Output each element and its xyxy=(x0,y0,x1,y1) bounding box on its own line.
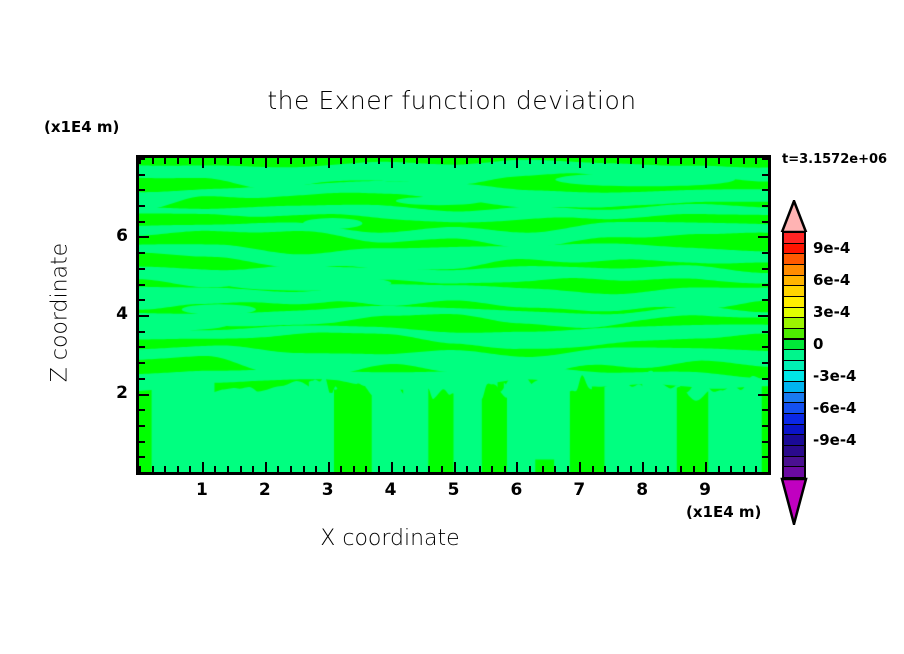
x-major-tick xyxy=(516,158,518,168)
x-minor-tick xyxy=(252,466,254,472)
x-minor-tick xyxy=(416,158,418,164)
x-minor-tick xyxy=(755,466,757,472)
colorbar-tick-label: -3e-4 xyxy=(813,367,857,385)
x-minor-tick xyxy=(315,466,317,472)
page-title: the Exner function deviation xyxy=(0,86,904,115)
x-minor-tick xyxy=(378,158,380,164)
x-minor-tick xyxy=(768,158,770,164)
x-minor-tick xyxy=(177,158,179,164)
x-minor-tick xyxy=(504,158,506,164)
x-minor-tick xyxy=(164,466,166,472)
x-minor-tick xyxy=(768,466,770,472)
x-minor-tick xyxy=(189,466,191,472)
x-minor-tick xyxy=(655,466,657,472)
x-minor-tick xyxy=(403,158,405,164)
y-minor-tick xyxy=(139,456,145,458)
x-major-tick xyxy=(579,462,581,472)
y-minor-tick xyxy=(139,331,145,333)
x-minor-tick xyxy=(491,466,493,472)
x-minor-tick xyxy=(743,158,745,164)
figure-canvas: the Exner function deviation (x1E4 m) (x… xyxy=(0,0,904,654)
x-minor-tick xyxy=(152,158,154,164)
y-minor-tick xyxy=(762,378,768,380)
y-minor-tick xyxy=(762,472,768,474)
contour-field xyxy=(139,158,768,472)
x-minor-tick xyxy=(277,466,279,472)
colorbar-band xyxy=(782,466,806,478)
x-minor-tick xyxy=(441,466,443,472)
x-tick-label: 2 xyxy=(250,480,280,500)
x-tick-label: 6 xyxy=(501,480,531,500)
x-tick-label: 9 xyxy=(690,480,720,500)
x-minor-tick xyxy=(365,466,367,472)
y-major-tick xyxy=(139,394,149,396)
x-minor-tick xyxy=(428,158,430,164)
colorbar-over-arrow-icon xyxy=(779,200,809,232)
y-minor-tick xyxy=(762,331,768,333)
y-minor-tick xyxy=(139,425,145,427)
y-minor-tick xyxy=(762,425,768,427)
y-minor-tick xyxy=(762,221,768,223)
y-minor-tick xyxy=(762,441,768,443)
x-major-tick xyxy=(328,462,330,472)
time-annotation: t=3.1572e+06 xyxy=(782,152,887,167)
y-minor-tick xyxy=(762,299,768,301)
x-minor-tick xyxy=(529,466,531,472)
x-minor-tick xyxy=(353,158,355,164)
x-major-tick xyxy=(454,158,456,168)
y-minor-tick xyxy=(762,189,768,191)
x-minor-tick xyxy=(554,466,556,472)
y-tick-label: 4 xyxy=(98,304,128,324)
y-major-tick xyxy=(758,236,768,238)
colorbar-tick-label: 3e-4 xyxy=(813,303,850,321)
x-minor-tick xyxy=(441,158,443,164)
y-minor-tick xyxy=(139,409,145,411)
x-minor-tick xyxy=(630,466,632,472)
x-minor-tick xyxy=(617,158,619,164)
x-minor-tick xyxy=(630,158,632,164)
y-minor-tick xyxy=(139,268,145,270)
x-minor-tick xyxy=(340,158,342,164)
x-minor-tick xyxy=(240,158,242,164)
y-minor-tick xyxy=(139,472,145,474)
x-major-tick xyxy=(328,158,330,168)
x-major-tick xyxy=(642,158,644,168)
x-minor-tick xyxy=(214,158,216,164)
x-major-tick xyxy=(391,462,393,472)
x-major-tick xyxy=(202,462,204,472)
x-minor-tick xyxy=(466,158,468,164)
colorbar-tick-label: 6e-4 xyxy=(813,271,850,289)
y-minor-tick xyxy=(762,456,768,458)
x-tick-label: 8 xyxy=(627,480,657,500)
x-minor-tick xyxy=(353,466,355,472)
x-major-tick xyxy=(265,158,267,168)
y-minor-tick xyxy=(762,409,768,411)
x-minor-tick xyxy=(303,158,305,164)
x-major-tick xyxy=(454,462,456,472)
x-minor-tick xyxy=(680,466,682,472)
y-minor-tick xyxy=(139,441,145,443)
x-minor-tick xyxy=(479,466,481,472)
x-minor-tick xyxy=(491,158,493,164)
x-minor-tick xyxy=(290,158,292,164)
x-minor-tick xyxy=(718,466,720,472)
x-major-tick xyxy=(391,158,393,168)
y-minor-tick xyxy=(762,158,768,160)
x-minor-tick xyxy=(227,158,229,164)
x-axis-title: X coordinate xyxy=(0,526,780,551)
x-major-tick xyxy=(579,158,581,168)
x-minor-tick xyxy=(655,158,657,164)
x-minor-tick xyxy=(177,466,179,472)
colorbar-under-arrow-icon xyxy=(779,477,809,525)
x-major-tick xyxy=(705,158,707,168)
x-minor-tick xyxy=(617,466,619,472)
x-minor-tick xyxy=(504,466,506,472)
x-minor-tick xyxy=(604,158,606,164)
x-minor-tick xyxy=(567,466,569,472)
y-tick-label: 2 xyxy=(98,383,128,403)
x-minor-tick xyxy=(730,158,732,164)
x-minor-tick xyxy=(252,158,254,164)
x-minor-tick xyxy=(554,158,556,164)
x-minor-tick xyxy=(718,158,720,164)
colorbar-tick-label: -9e-4 xyxy=(813,431,857,449)
x-major-tick xyxy=(265,462,267,472)
x-minor-tick xyxy=(303,466,305,472)
x-minor-tick xyxy=(416,466,418,472)
y-axis-title: Z coordinate xyxy=(48,223,73,403)
x-axis-unit-label: (x1E4 m) xyxy=(686,503,761,521)
y-major-tick xyxy=(139,236,149,238)
colorbar-tick-label: 9e-4 xyxy=(813,239,850,257)
x-minor-tick xyxy=(567,158,569,164)
y-minor-tick xyxy=(139,189,145,191)
x-minor-tick xyxy=(378,466,380,472)
x-minor-tick xyxy=(730,466,732,472)
x-minor-tick xyxy=(466,466,468,472)
y-minor-tick xyxy=(139,252,145,254)
x-minor-tick xyxy=(680,158,682,164)
x-minor-tick xyxy=(542,158,544,164)
y-tick-label: 6 xyxy=(98,226,128,246)
y-minor-tick xyxy=(139,221,145,223)
x-major-tick xyxy=(642,462,644,472)
x-minor-tick xyxy=(479,158,481,164)
x-minor-tick xyxy=(592,466,594,472)
x-minor-tick xyxy=(403,466,405,472)
x-minor-tick xyxy=(667,466,669,472)
x-minor-tick xyxy=(340,466,342,472)
colorbar-tick-label: 0 xyxy=(813,335,823,353)
y-minor-tick xyxy=(762,362,768,364)
x-minor-tick xyxy=(214,466,216,472)
x-minor-tick xyxy=(529,158,531,164)
y-axis-unit-label: (x1E4 m) xyxy=(44,118,119,136)
y-minor-tick xyxy=(762,346,768,348)
x-minor-tick xyxy=(592,158,594,164)
x-minor-tick xyxy=(315,158,317,164)
x-minor-tick xyxy=(365,158,367,164)
y-minor-tick xyxy=(762,252,768,254)
x-tick-label: 3 xyxy=(313,480,343,500)
y-minor-tick xyxy=(139,174,145,176)
x-minor-tick xyxy=(428,466,430,472)
x-minor-tick xyxy=(240,466,242,472)
y-minor-tick xyxy=(139,158,145,160)
x-major-tick xyxy=(705,462,707,472)
y-minor-tick xyxy=(762,268,768,270)
x-minor-tick xyxy=(604,466,606,472)
y-major-tick xyxy=(139,315,149,317)
y-major-tick xyxy=(758,394,768,396)
y-minor-tick xyxy=(139,299,145,301)
x-minor-tick xyxy=(290,466,292,472)
colorbar-tick-label: -6e-4 xyxy=(813,399,857,417)
y-minor-tick xyxy=(139,378,145,380)
x-tick-label: 5 xyxy=(439,480,469,500)
y-minor-tick xyxy=(139,346,145,348)
y-minor-tick xyxy=(139,362,145,364)
x-tick-label: 7 xyxy=(564,480,594,500)
x-minor-tick xyxy=(743,466,745,472)
y-minor-tick xyxy=(762,205,768,207)
x-major-tick xyxy=(202,158,204,168)
x-major-tick xyxy=(516,462,518,472)
x-minor-tick xyxy=(189,158,191,164)
colorbar xyxy=(779,200,809,525)
x-minor-tick xyxy=(667,158,669,164)
x-minor-tick xyxy=(152,466,154,472)
y-minor-tick xyxy=(139,205,145,207)
x-minor-tick xyxy=(542,466,544,472)
x-minor-tick xyxy=(755,158,757,164)
x-minor-tick xyxy=(693,158,695,164)
y-minor-tick xyxy=(762,284,768,286)
y-minor-tick xyxy=(762,174,768,176)
plot-area xyxy=(136,155,771,475)
x-tick-label: 1 xyxy=(187,480,217,500)
y-minor-tick xyxy=(139,284,145,286)
y-major-tick xyxy=(758,315,768,317)
x-minor-tick xyxy=(277,158,279,164)
x-minor-tick xyxy=(693,466,695,472)
x-minor-tick xyxy=(227,466,229,472)
x-tick-label: 4 xyxy=(376,480,406,500)
x-minor-tick xyxy=(164,158,166,164)
